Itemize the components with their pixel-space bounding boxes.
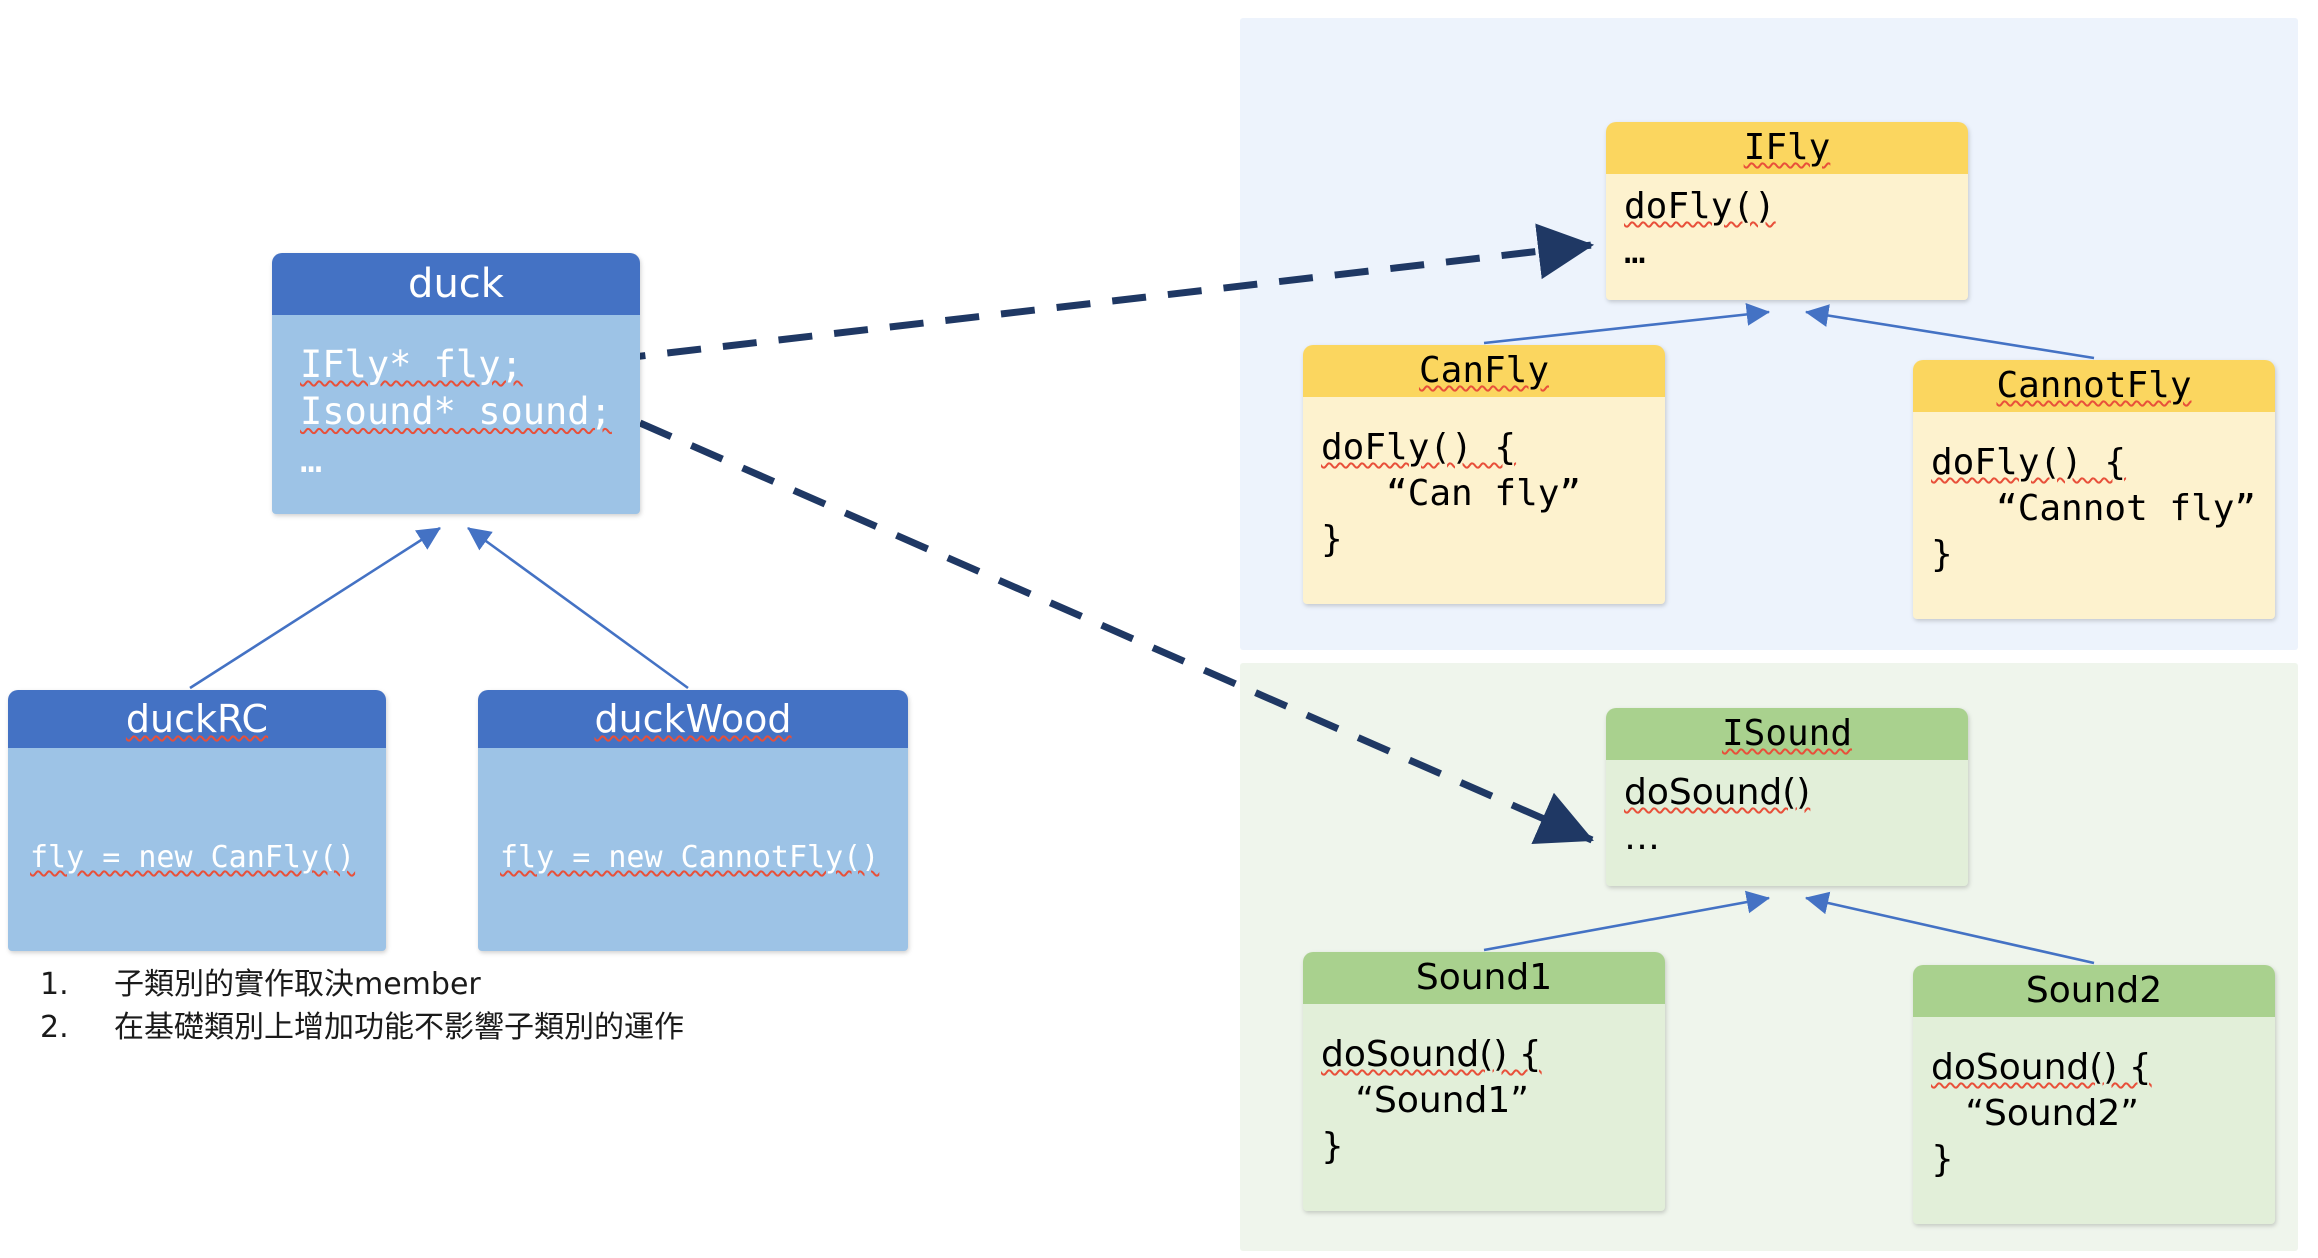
- class-box-sound2[interactable]: Sound2 doSound() { “Sound2”}: [1913, 965, 2275, 1224]
- note-item: 2. 在基礎類別上增加功能不影響子類別的運作: [40, 1007, 940, 1050]
- class-box-isound[interactable]: ISound doSound()…: [1606, 708, 1968, 886]
- class-members-duckrc: fly = new CanFly(): [8, 748, 386, 951]
- class-title-sound2: Sound2: [1913, 965, 2275, 1017]
- member-sound1-1: “Sound1”: [1321, 1080, 1529, 1121]
- class-members-ifly: doFly()…: [1606, 174, 1968, 300]
- member-cannotfly-0: doFly() {: [1931, 442, 2126, 483]
- note-text: 子類別的實作取決member: [114, 964, 481, 1007]
- class-members-duck: IFly* fly;Isound* sound;…: [272, 315, 640, 514]
- member-ifly-0: doFly(): [1624, 186, 1776, 227]
- diagram-canvas: IFly (dependency, dashed) --> ISound (de…: [0, 0, 2318, 1258]
- member-canfly-2: }: [1321, 519, 1343, 560]
- member-ifly-1: …: [1624, 231, 1646, 272]
- member-duck-1: Isound* sound;: [300, 390, 612, 433]
- class-box-canfly[interactable]: CanFly doFly() { “Can fly”}: [1303, 345, 1665, 604]
- class-title-isound: ISound: [1606, 708, 1968, 760]
- member-sound2-1: “Sound2”: [1931, 1093, 2139, 1134]
- class-title-ifly: IFly: [1606, 122, 1968, 174]
- member-sound1-0: doSound() {: [1321, 1034, 1542, 1075]
- notes-list: 1. 子類別的實作取決member 2. 在基礎類別上增加功能不影響子類別的運作: [40, 964, 940, 1049]
- class-box-ifly[interactable]: IFly doFly()…: [1606, 122, 1968, 300]
- class-title-duckrc: duckRC: [8, 690, 386, 748]
- edge-duckwood-to-duck: [468, 528, 688, 688]
- member-cannotfly-1: “Cannot fly”: [1931, 488, 2256, 529]
- member-sound2-2: }: [1931, 1139, 1954, 1180]
- class-members-canfly: doFly() { “Can fly”}: [1303, 397, 1665, 604]
- class-members-duckwood: fly = new CannotFly(): [478, 748, 908, 951]
- member-isound-0: doSound(): [1624, 772, 1810, 813]
- note-text: 在基礎類別上增加功能不影響子類別的運作: [114, 1007, 684, 1050]
- class-box-duck[interactable]: duck IFly* fly;Isound* sound;…: [272, 253, 640, 514]
- member-duckrc-0: fly = new CanFly(): [30, 840, 355, 875]
- class-members-sound2: doSound() { “Sound2”}: [1913, 1017, 2275, 1224]
- note-number: 1.: [40, 964, 114, 1007]
- class-box-duckrc[interactable]: duckRC fly = new CanFly(): [8, 690, 386, 951]
- member-cannotfly-2: }: [1931, 534, 1953, 575]
- member-canfly-1: “Can fly”: [1321, 473, 1581, 514]
- member-duck-2: …: [300, 438, 322, 481]
- class-title-canfly: CanFly: [1303, 345, 1665, 397]
- class-title-duck: duck: [272, 253, 640, 315]
- member-duck-0: IFly* fly;: [300, 343, 523, 386]
- note-number: 2.: [40, 1007, 114, 1050]
- member-canfly-0: doFly() {: [1321, 427, 1516, 468]
- note-item: 1. 子類別的實作取決member: [40, 964, 940, 1007]
- class-title-duckwood: duckWood: [478, 690, 908, 748]
- member-sound1-2: }: [1321, 1126, 1344, 1167]
- class-title-sound1: Sound1: [1303, 952, 1665, 1004]
- class-box-cannotfly[interactable]: CannotFly doFly() { “Cannot fly”}: [1913, 360, 2275, 619]
- class-members-isound: doSound()…: [1606, 760, 1968, 886]
- class-members-cannotfly: doFly() { “Cannot fly”}: [1913, 412, 2275, 619]
- member-isound-1: …: [1624, 817, 1660, 858]
- class-title-cannotfly: CannotFly: [1913, 360, 2275, 412]
- class-members-sound1: doSound() { “Sound1”}: [1303, 1004, 1665, 1211]
- class-box-sound1[interactable]: Sound1 doSound() { “Sound1”}: [1303, 952, 1665, 1211]
- edge-duckrc-to-duck: [190, 528, 440, 688]
- class-box-duckwood[interactable]: duckWood fly = new CannotFly(): [478, 690, 908, 951]
- member-sound2-0: doSound() {: [1931, 1047, 2152, 1088]
- member-duckwood-0: fly = new CannotFly(): [500, 840, 879, 875]
